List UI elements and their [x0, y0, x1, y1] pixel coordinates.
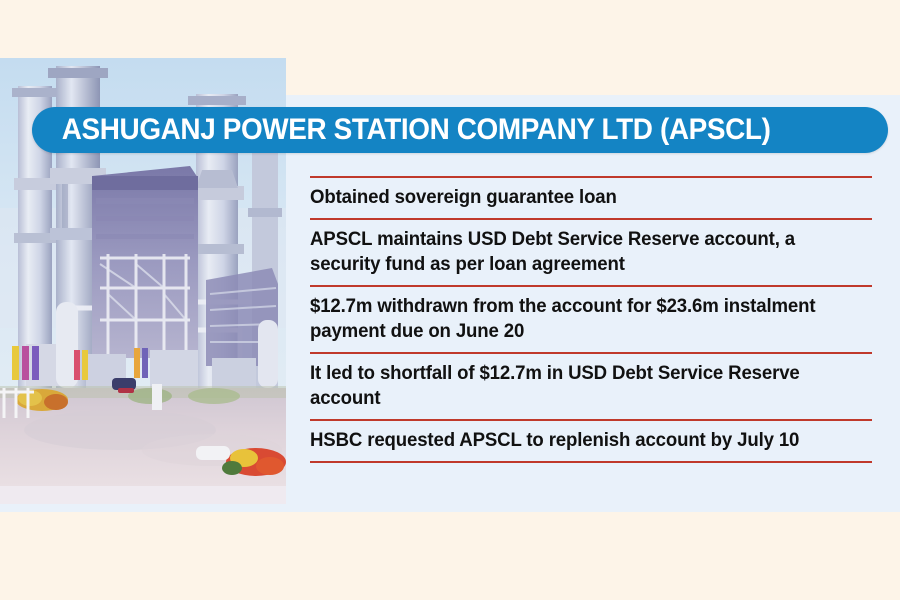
photo-bottom-strip	[0, 486, 286, 504]
list-item: Obtained sovereign guarantee loan	[310, 178, 872, 218]
list-item: HSBC requested APSCL to replenish accoun…	[310, 421, 872, 461]
list-item-text: It led to shortfall of $12.7m in USD Deb…	[310, 361, 847, 411]
list-item: It led to shortfall of $12.7m in USD Deb…	[310, 354, 872, 419]
infographic-stage: ASHUGANJ POWER STATION COMPANY LTD (APSC…	[0, 0, 900, 600]
page-title: ASHUGANJ POWER STATION COMPANY LTD (APSC…	[32, 115, 771, 145]
list-item: $12.7m withdrawn from the account for $2…	[310, 287, 872, 352]
list-item-text: Obtained sovereign guarantee loan	[310, 185, 847, 210]
title-banner: ASHUGANJ POWER STATION COMPANY LTD (APSC…	[32, 107, 888, 153]
list-item-text: APSCL maintains USD Debt Service Reserve…	[310, 227, 847, 277]
divider-rule	[310, 461, 872, 463]
fact-list: Obtained sovereign guarantee loan APSCL …	[310, 176, 872, 463]
list-item: APSCL maintains USD Debt Service Reserve…	[310, 220, 872, 285]
list-item-text: $12.7m withdrawn from the account for $2…	[310, 294, 847, 344]
list-item-text: HSBC requested APSCL to replenish accoun…	[310, 428, 847, 453]
